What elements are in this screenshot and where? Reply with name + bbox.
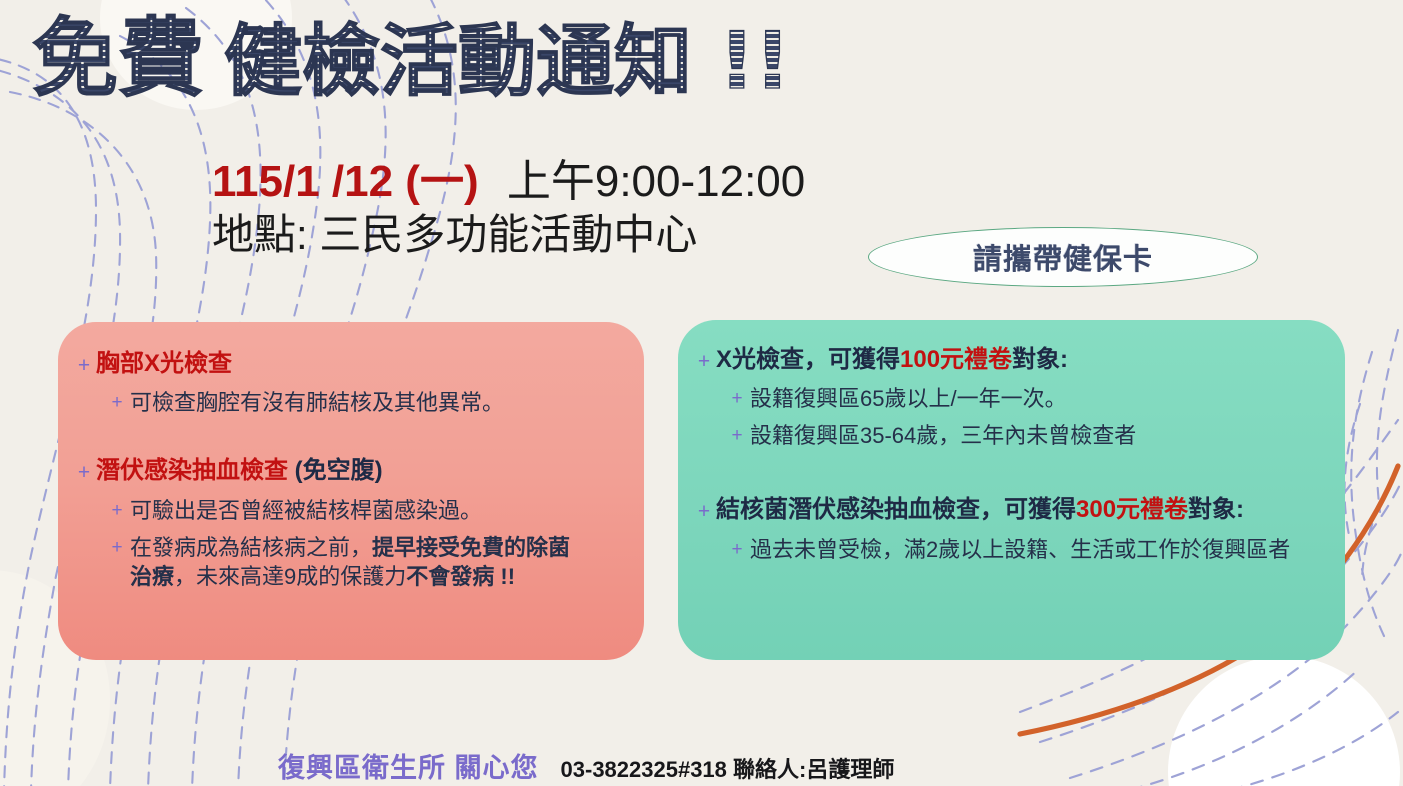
exam-block-igra: + 潛伏感染抽血檢查 (免空腹) + 可驗出是否曾經被結核桿菌感染過。 + 在發… [72,455,618,590]
list-item: + 可檢查胸腔有沒有肺結核及其他異常。 [72,388,618,417]
footer-contact: 03-3822325#318 聯絡人:呂護理師 [561,752,895,784]
reward-300-criteria-1: 過去未曾受檢，滿2歲以上設籍、生活或工作於復興區者 [750,535,1290,564]
reward-100-criteria-2: 設籍復興區35-64歲，三年內未曾檢查者 [750,421,1136,450]
title-artwork: 免費 健檢活動通知 !! [28,10,828,110]
reward-300-pre: 結核菌潛伏感染抽血檢查，可獲得 [716,496,1076,523]
event-time: 上午9:00-12:00 [507,157,805,206]
plus-bullet-icon: + [724,384,750,410]
list-item: + 設籍復興區35-64歲，三年內未曾檢查者 [692,421,1325,450]
exam-detail-igra-2: 在發病成為結核病之前，提早接受免費的除菌治療，未來高達9成的保護力不會發病 !! [130,533,590,591]
plus-bullet-icon: + [724,535,750,561]
title-rest-text: 健檢活動通知 !! [224,17,790,107]
badge-label: 請攜帶健保卡 [973,236,1153,278]
reward-300-post: 對象: [1188,496,1244,523]
deco-dashed-lines-right [1345,330,1398,636]
bring-health-card-badge: 請攜帶健保卡 [868,227,1258,287]
reward-block-100: + X光檢查，可獲得100元禮卷對象: + 設籍復興區65歲以上/一年一次。 +… [692,344,1325,450]
reward-100-post: 對象: [1012,346,1068,373]
exam-block-xray: + 胸部X光檢查 + 可檢查胸腔有沒有肺結核及其他異常。 [72,348,618,417]
reward-100-amount: 100元禮卷 [900,346,1012,373]
exam-detail-igra-1: 可驗出是否曾經被結核桿菌感染過。 [130,496,482,525]
list-item: + 可驗出是否曾經被結核桿菌感染過。 [72,496,618,525]
plus-bullet-icon: + [72,455,96,487]
plus-bullet-icon: + [692,494,716,526]
exam-heading-igra: 潛伏感染抽血檢查 [96,457,288,484]
footer: 復興區衛生所 關心您 03-3822325#318 聯絡人:呂護理師 [278,746,894,785]
event-place: 地點: 三民多功能活動中心 [212,210,805,260]
reward-100-criteria-1: 設籍復興區65歲以上/一年一次。 [750,384,1067,413]
event-datetime-line: 115/1 /12 (一) 上午9:00-12:00 [212,158,805,206]
exam-heading-igra-note: (免空腹) [288,457,383,484]
list-item: + X光檢查，可獲得100元禮卷對象: [692,344,1325,376]
event-date: 115/1 /12 (一) [212,157,479,206]
title-highlight-text: 免費 [32,10,204,109]
plus-bullet-icon: + [724,421,750,447]
plus-bullet-icon: + [692,344,716,376]
list-item: + 胸部X光檢查 [72,348,618,380]
footer-organization: 復興區衛生所 關心您 [278,746,539,785]
list-item: + 在發病成為結核病之前，提早接受免費的除菌治療，未來高達9成的保護力不會發病 … [72,533,618,591]
exam-types-panel: + 胸部X光檢查 + 可檢查胸腔有沒有肺結核及其他異常。 + 潛伏感染抽血檢查 … [58,322,644,660]
list-item: + 過去未曾受檢，滿2歲以上設籍、生活或工作於復興區者 [692,535,1325,564]
deco-blob-bottomright [1168,656,1400,786]
reward-block-300: + 結核菌潛伏感染抽血檢查，可獲得300元禮卷對象: + 過去未曾受檢，滿2歲以… [692,494,1325,563]
igra-2-part1: 在發病成為結核病之前， [130,535,372,560]
list-item: + 設籍復興區65歲以上/一年一次。 [692,384,1325,413]
list-item: + 潛伏感染抽血檢查 (免空腹) [72,455,618,487]
plus-bullet-icon: + [104,496,130,522]
plus-bullet-icon: + [104,533,130,559]
exam-heading-xray: 胸部X光檢查 [96,350,232,377]
reward-100-pre: X光檢查，可獲得 [716,346,900,373]
plus-bullet-icon: + [104,388,130,414]
igra-2-part3: ，未來高達9成的保護力 [174,564,406,589]
igra-2-part4: 不會發病 !! [406,564,515,589]
page-title: 免費 健檢活動通知 !! [28,10,828,110]
event-details: 115/1 /12 (一) 上午9:00-12:00 地點: 三民多功能活動中心 [212,158,805,260]
plus-bullet-icon: + [72,348,96,380]
list-item: + 結核菌潛伏感染抽血檢查，可獲得300元禮卷對象: [692,494,1325,526]
exam-detail-xray-1: 可檢查胸腔有沒有肺結核及其他異常。 [130,388,504,417]
poster-canvas: 免費 健檢活動通知 !! 115/1 /12 (一) 上午9:00-12:00 … [0,0,1403,786]
eligibility-panel: + X光檢查，可獲得100元禮卷對象: + 設籍復興區65歲以上/一年一次。 +… [678,320,1345,660]
reward-300-amount: 300元禮卷 [1076,496,1188,523]
